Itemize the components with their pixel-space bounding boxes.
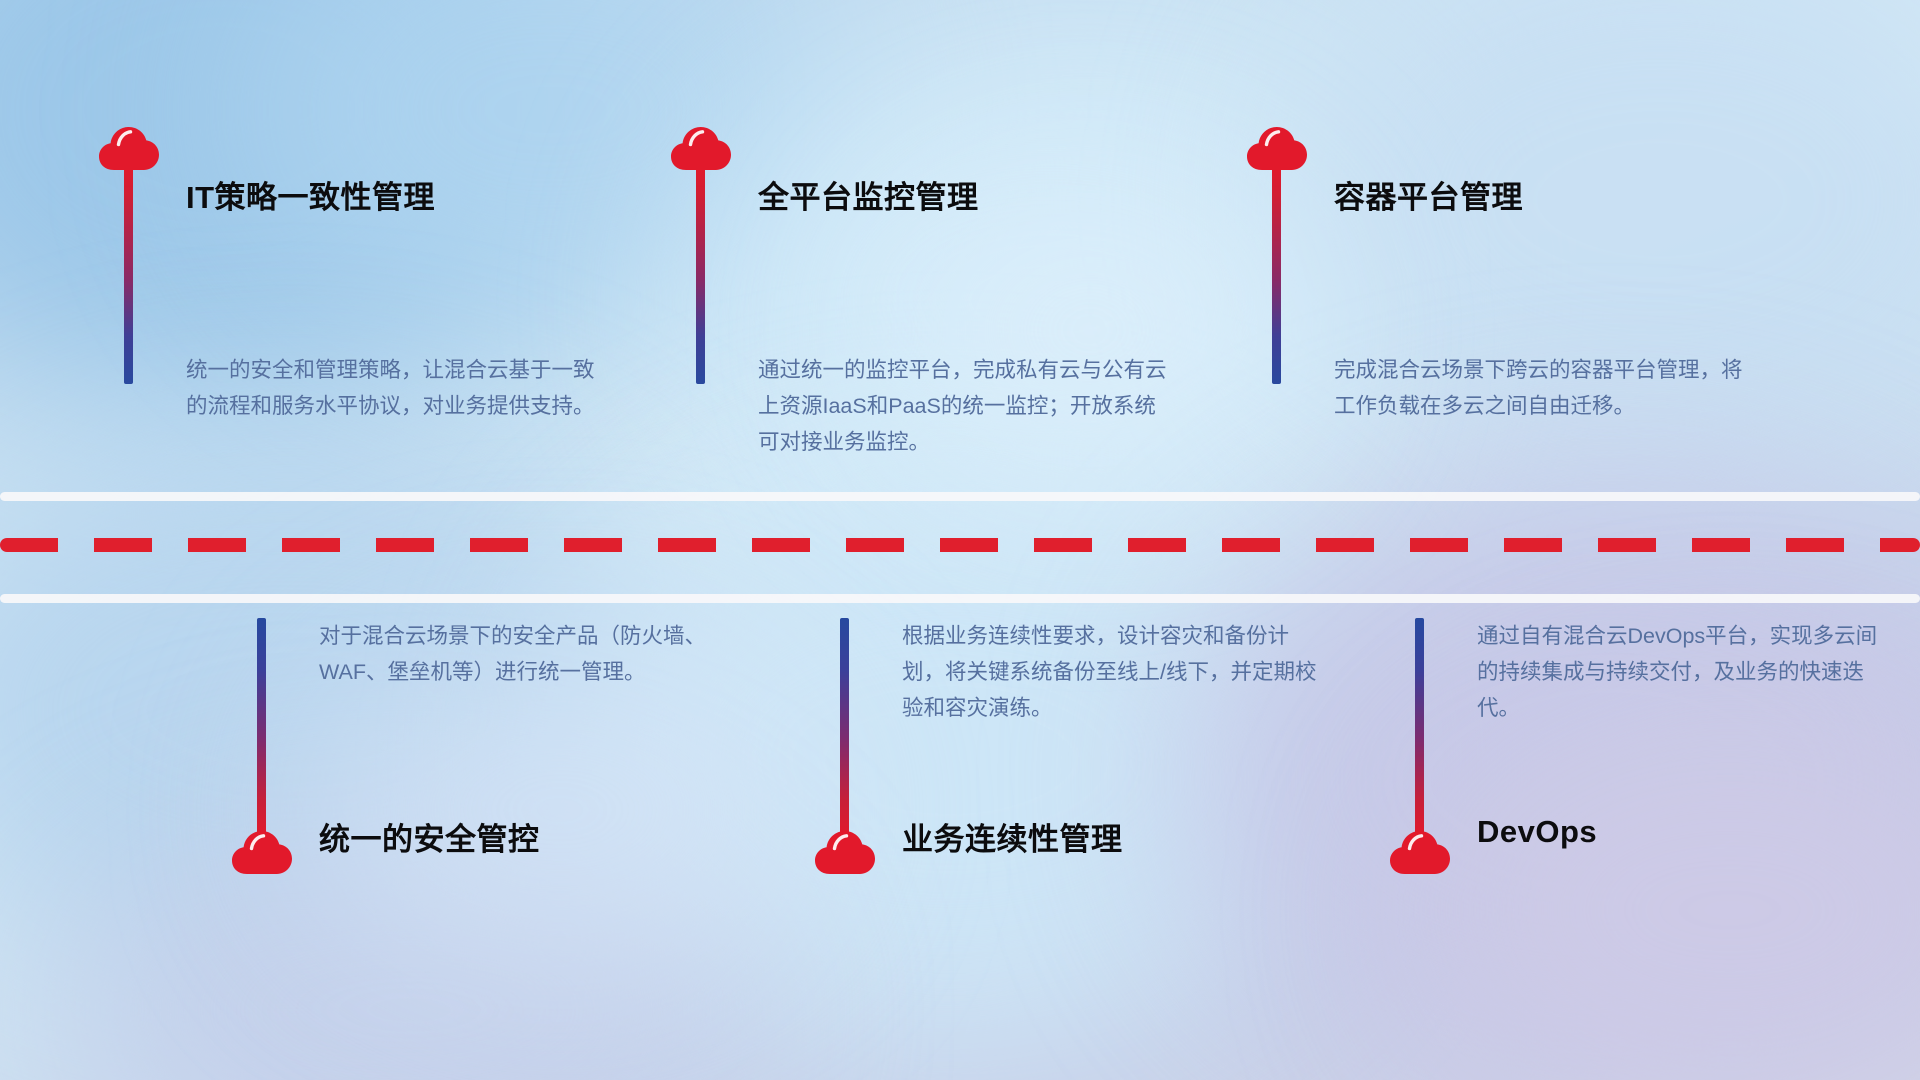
column-title: IT策略一致性管理 xyxy=(186,172,435,217)
background-blob xyxy=(300,640,820,980)
cloud-icon xyxy=(1245,124,1309,172)
column-title: 业务连续性管理 xyxy=(902,814,1123,859)
connector-stem xyxy=(696,166,705,384)
column-body-text: 通过统一的监控平台，完成私有云与公有云上资源IaaS和PaaS的统一监控；开放系… xyxy=(758,352,1173,460)
column-title: 容器平台管理 xyxy=(1334,172,1523,217)
cloud-icon xyxy=(1388,828,1452,876)
column-title: 统一的安全管控 xyxy=(319,814,540,859)
dashed-rule xyxy=(0,538,1920,552)
solid-rule-bottom xyxy=(0,594,1920,603)
connector-stem xyxy=(1415,618,1424,836)
column-title: DevOps xyxy=(1477,814,1597,850)
cloud-icon xyxy=(669,124,733,172)
divider-band xyxy=(0,484,1920,604)
cloud-icon xyxy=(813,828,877,876)
column-body-text: 统一的安全和管理策略，让混合云基于一致的流程和服务水平协议，对业务提供支持。 xyxy=(186,352,601,424)
column-body-text: 对于混合云场景下的安全产品（防火墙、WAF、堡垒机等）进行统一管理。 xyxy=(319,618,734,690)
column-body-text: 完成混合云场景下跨云的容器平台管理，将工作负载在多云之间自由迁移。 xyxy=(1334,352,1749,424)
connector-stem xyxy=(124,166,133,384)
column-body-text: 根据业务连续性要求，设计容灾和备份计划，将关键系统备份至线上/线下，并定期校验和… xyxy=(902,618,1317,726)
connector-stem xyxy=(1272,166,1281,384)
cloud-icon xyxy=(97,124,161,172)
connector-stem xyxy=(840,618,849,836)
column-body-text: 通过自有混合云DevOps平台，实现多云间的持续集成与持续交付，及业务的快速迭代… xyxy=(1477,618,1892,726)
solid-rule-top xyxy=(0,492,1920,501)
connector-stem xyxy=(257,618,266,836)
column-title: 全平台监控管理 xyxy=(758,172,979,217)
cloud-icon xyxy=(230,828,294,876)
